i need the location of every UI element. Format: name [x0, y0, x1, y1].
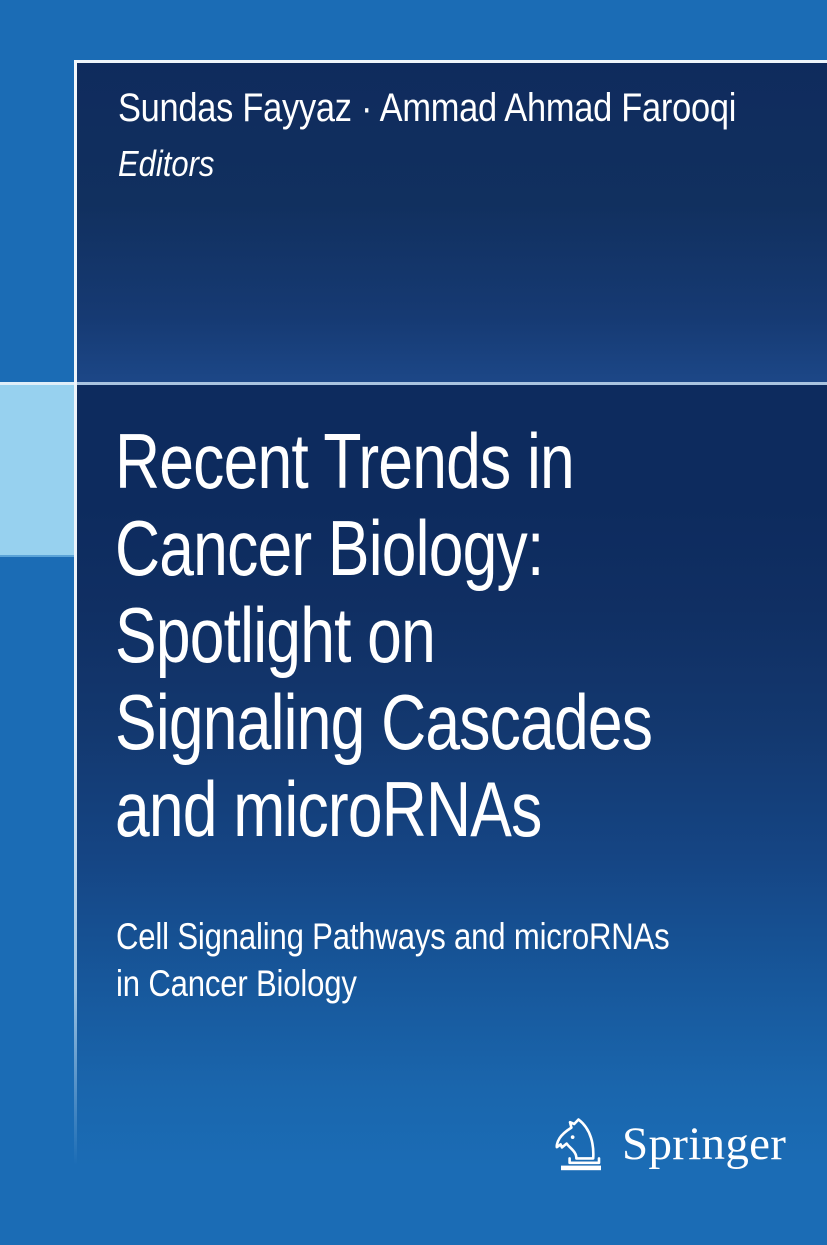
editors-names: Sundas Fayyaz · Ammad Ahmad Farooqi [118, 88, 720, 128]
title-line-3: Spotlight on [115, 592, 675, 679]
book-subtitle: Cell Signaling Pathways and microRNAs in… [116, 913, 738, 1008]
left-color-rail [0, 0, 74, 1245]
book-cover: Sundas Fayyaz · Ammad Ahmad Farooqi Edit… [0, 0, 827, 1245]
title-line-4: Signaling Cascades [115, 679, 675, 766]
title-line-2: Cancer Biology: [115, 505, 675, 592]
rail-hairline-bottom [0, 555, 74, 557]
publisher-logo: Springer [548, 1113, 786, 1175]
title-line-5: and microRNAs [115, 766, 675, 853]
vertical-divider-line [74, 60, 77, 1165]
subtitle-line-1: Cell Signaling Pathways and microRNAs [116, 913, 738, 960]
editors-role-label: Editors [118, 146, 214, 182]
authors-panel-top-hairline [77, 60, 827, 63]
rail-light-blue-block [0, 385, 74, 555]
publisher-name: Springer [622, 1121, 786, 1168]
springer-knight-icon [548, 1113, 608, 1175]
book-title: Recent Trends in Cancer Biology: Spotlig… [115, 418, 675, 853]
title-line-1: Recent Trends in [115, 418, 675, 505]
panel-divider-hairline [77, 382, 827, 385]
subtitle-line-2: in Cancer Biology [116, 960, 738, 1007]
